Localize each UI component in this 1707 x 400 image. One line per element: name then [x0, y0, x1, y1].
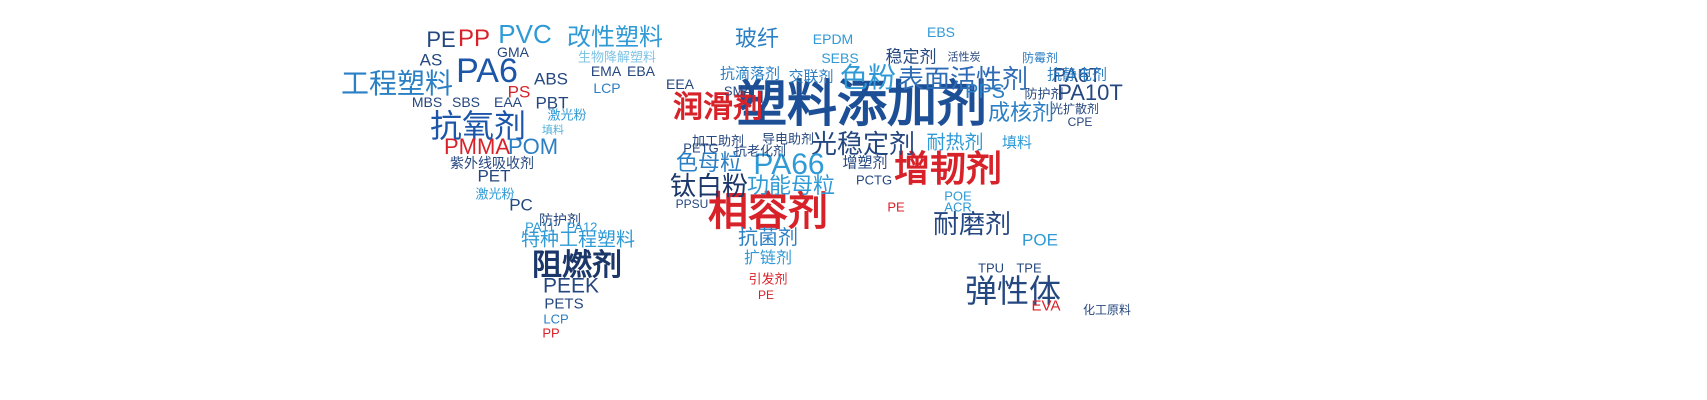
- cloud-word[interactable]: PCTG: [856, 174, 892, 187]
- cloud-word[interactable]: LCP: [543, 313, 568, 326]
- cloud-word[interactable]: ACR: [944, 201, 971, 214]
- cloud-word[interactable]: PE: [887, 201, 904, 214]
- cloud-word[interactable]: 防霉剂: [1022, 52, 1058, 64]
- cloud-word[interactable]: EVA: [1032, 299, 1061, 314]
- cloud-word[interactable]: 色粉: [840, 64, 896, 92]
- cloud-word[interactable]: 激光粉: [547, 109, 586, 122]
- cloud-word[interactable]: POE: [1022, 232, 1058, 249]
- cloud-word[interactable]: 化工原料: [1083, 304, 1131, 316]
- cloud-word[interactable]: EBS: [927, 25, 955, 39]
- cloud-word[interactable]: EAA: [494, 95, 522, 109]
- cloud-word[interactable]: 抗老化剂: [734, 145, 786, 158]
- cloud-word[interactable]: PEEK: [543, 276, 599, 297]
- cloud-word[interactable]: 扩链剂: [744, 251, 792, 267]
- cloud-word[interactable]: PE: [758, 289, 774, 301]
- cloud-word[interactable]: 表面活性剂: [898, 66, 1028, 92]
- cloud-word[interactable]: EEA: [666, 77, 694, 91]
- cloud-word[interactable]: EPDM: [813, 32, 853, 46]
- cloud-word[interactable]: 功能母粒: [747, 175, 835, 197]
- cloud-word[interactable]: LCP: [593, 81, 620, 95]
- cloud-word[interactable]: 防护剂: [1024, 88, 1063, 101]
- cloud-word[interactable]: TPU: [978, 262, 1004, 275]
- cloud-word[interactable]: 增塑剂: [842, 156, 887, 171]
- cloud-word[interactable]: 引发剂: [748, 273, 787, 286]
- cloud-word[interactable]: 光稳定剂: [811, 131, 915, 157]
- cloud-word[interactable]: AS: [420, 52, 443, 69]
- cloud-word[interactable]: CPE: [1068, 116, 1093, 128]
- cloud-word[interactable]: 钛白粉: [670, 173, 748, 199]
- cloud-word[interactable]: 抗滴落剂: [720, 67, 780, 82]
- cloud-word[interactable]: SMA: [724, 85, 752, 98]
- cloud-word[interactable]: SEBS: [821, 51, 858, 65]
- cloud-word[interactable]: PP: [542, 327, 559, 340]
- cloud-word[interactable]: PPSU: [676, 198, 709, 210]
- cloud-word[interactable]: 耐磨剂: [933, 211, 1011, 237]
- cloud-word[interactable]: PP: [458, 27, 490, 51]
- cloud-word[interactable]: PPS: [965, 82, 1005, 102]
- cloud-word[interactable]: TPE: [1016, 262, 1041, 275]
- cloud-word[interactable]: 填料: [1002, 136, 1032, 151]
- cloud-word[interactable]: 交联剂: [788, 70, 833, 85]
- cloud-word[interactable]: 玻纤: [735, 28, 779, 50]
- word-cloud-canvas: 塑料添加剂相容剂增韧剂阻燃剂润滑剂弹性体抗氧剂工程塑料表面活性剂光稳定剂耐磨剂P…: [0, 0, 1707, 400]
- cloud-word[interactable]: 稳定剂: [886, 49, 937, 66]
- cloud-word[interactable]: ABS: [534, 71, 568, 88]
- cloud-word[interactable]: 抗菌剂: [738, 228, 798, 248]
- cloud-word[interactable]: 成核剂: [988, 102, 1054, 124]
- cloud-word[interactable]: PETS: [544, 297, 583, 312]
- cloud-word[interactable]: 填料: [542, 126, 564, 137]
- cloud-word[interactable]: 激光粉: [475, 188, 514, 201]
- cloud-word[interactable]: PA12: [567, 221, 598, 234]
- cloud-word[interactable]: 生物降解塑料: [578, 51, 656, 64]
- cloud-word[interactable]: 光扩散剂: [1051, 103, 1099, 115]
- cloud-word[interactable]: 改性塑料: [567, 26, 663, 50]
- cloud-word[interactable]: EBA: [627, 64, 655, 78]
- cloud-word[interactable]: MBS: [412, 95, 442, 109]
- cloud-word[interactable]: 耐热剂: [926, 134, 983, 153]
- cloud-word[interactable]: 紫外线吸收剂: [450, 156, 534, 170]
- cloud-word[interactable]: PE: [426, 29, 455, 51]
- cloud-word[interactable]: GMA: [497, 45, 529, 59]
- cloud-word[interactable]: SBS: [452, 95, 480, 109]
- cloud-word[interactable]: EMA: [591, 64, 621, 78]
- cloud-word[interactable]: 活性炭: [948, 53, 981, 64]
- cloud-word[interactable]: PETG: [683, 142, 718, 155]
- cloud-word[interactable]: PA11: [525, 221, 555, 234]
- cloud-word[interactable]: 抗静电剂: [1047, 68, 1107, 83]
